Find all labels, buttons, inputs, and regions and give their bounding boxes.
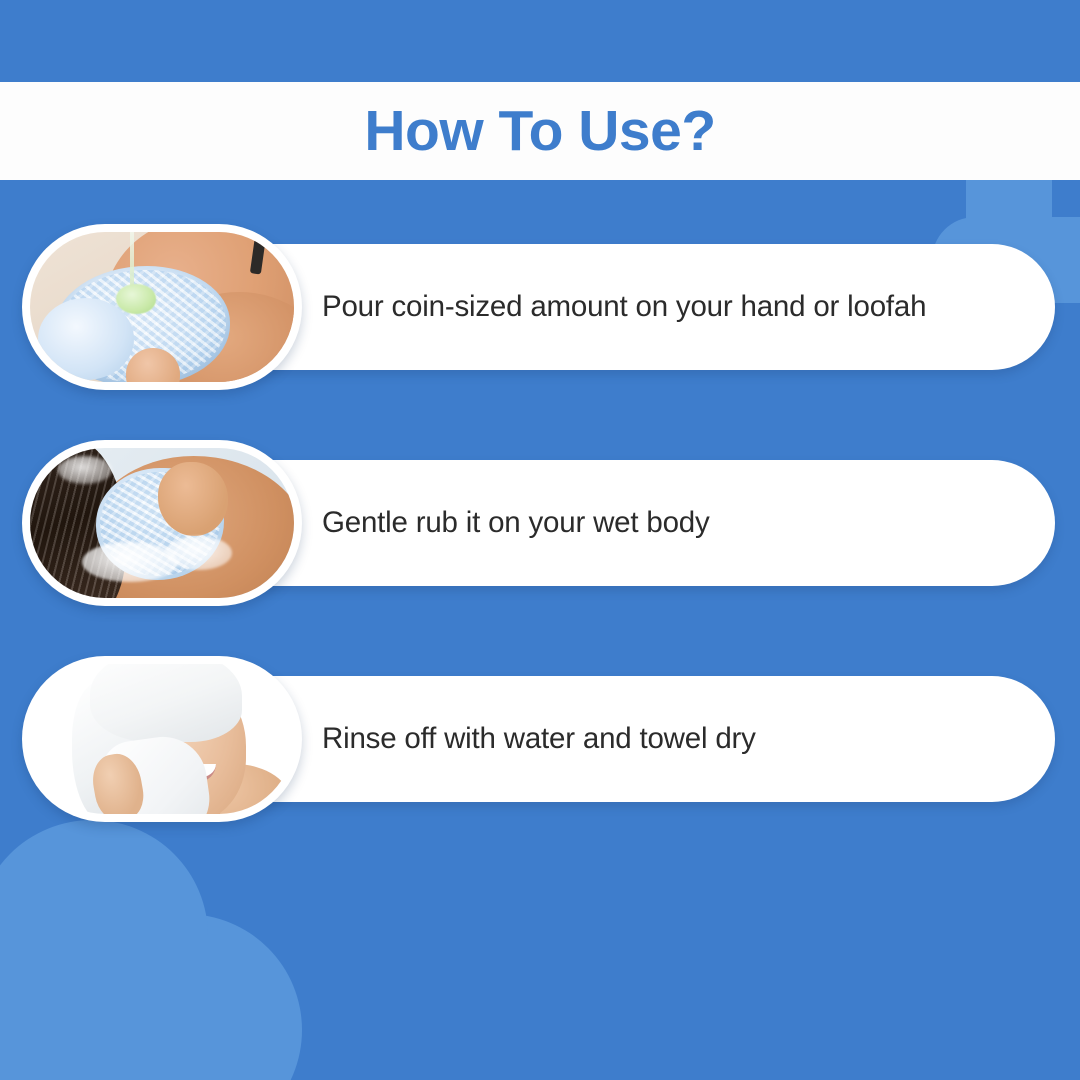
list-item[interactable]: Rinse off with water and towel dry <box>0 644 1080 834</box>
towel-turban-shape <box>90 664 242 742</box>
step-label: Rinse off with water and towel dry <box>322 722 756 756</box>
foam-shape <box>166 536 232 570</box>
step-label: Gentle rub it on your wet body <box>322 506 710 540</box>
gel-drip-shape <box>130 232 134 288</box>
steps-list: Pour coin-sized amount on your hand or l… <box>0 0 1080 1080</box>
step-thumbnail-frame <box>22 224 302 390</box>
list-item[interactable]: Gentle rub it on your wet body <box>0 428 1080 618</box>
foam-shape <box>82 542 178 582</box>
foam-shape <box>58 456 112 484</box>
woman-towel-dry-photo <box>30 664 294 814</box>
hand-shape <box>158 462 228 536</box>
loofah-shape-secondary <box>38 298 134 380</box>
woman-rubbing-loofah-photo <box>30 448 294 598</box>
step-thumbnail-frame <box>22 656 302 822</box>
step-label: Pour coin-sized amount on your hand or l… <box>322 290 926 324</box>
list-item[interactable]: Pour coin-sized amount on your hand or l… <box>0 212 1080 402</box>
step-thumbnail-frame <box>22 440 302 606</box>
gel-blob-shape <box>116 284 156 314</box>
loofah-with-gel-photo <box>30 232 294 382</box>
